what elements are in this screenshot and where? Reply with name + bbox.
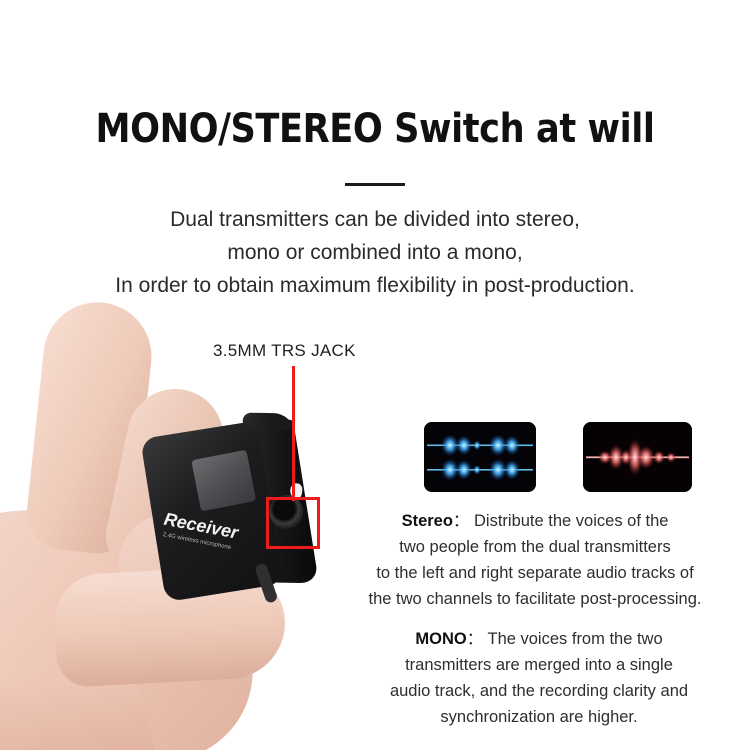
stereo-separator: ： xyxy=(453,512,470,530)
device-clip xyxy=(267,418,294,430)
subtitle-line-3: In order to obtain maximum flexibility i… xyxy=(0,269,750,302)
mono-desc-line-1: MONO： The voices from the two xyxy=(336,626,742,652)
product-feature-page: MONO/STEREO Switch at will Dual transmit… xyxy=(0,0,750,750)
mono-waveform-icon xyxy=(583,422,692,492)
mono-waveform-image xyxy=(583,422,692,492)
mono-desc-line-3: audio track, and the recording clarity a… xyxy=(336,678,742,704)
callout-leader-line xyxy=(292,366,295,501)
stereo-desc-line-3: to the left and right separate audio tra… xyxy=(328,560,742,586)
page-subtitle: Dual transmitters can be divided into st… xyxy=(0,203,750,302)
stereo-term: Stereo xyxy=(402,512,453,530)
callout-highlight-box xyxy=(266,497,320,549)
stereo-desc-line-1: Stereo： Distribute the voices of the xyxy=(328,508,742,534)
subtitle-line-2: mono or combined into a mono, xyxy=(0,236,750,269)
stereo-desc-line-2: two people from the dual transmitters xyxy=(328,534,742,560)
mono-desc-line-4: synchronization are higher. xyxy=(336,704,742,730)
mono-separator: ： xyxy=(467,630,484,648)
mono-description: MONO： The voices from the two transmitte… xyxy=(336,626,742,730)
stereo-desc-text-1: Distribute the voices of the xyxy=(469,512,668,530)
mono-desc-line-2: transmitters are merged into a single xyxy=(336,652,742,678)
stereo-waveform-image xyxy=(424,422,536,492)
stereo-waveform-icon xyxy=(424,422,536,492)
subtitle-line-1: Dual transmitters can be divided into st… xyxy=(0,203,750,236)
page-title: MONO/STEREO Switch at will xyxy=(45,106,705,152)
callout-label-trs-jack: 3.5MM TRS JACK xyxy=(213,341,356,361)
mono-desc-text-1: The voices from the two xyxy=(483,630,662,648)
title-divider xyxy=(345,183,405,186)
device-lcd-screen xyxy=(191,450,256,512)
stereo-description: Stereo： Distribute the voices of the two… xyxy=(328,508,742,612)
stereo-desc-line-4: the two channels to facilitate post-proc… xyxy=(328,586,742,612)
mono-term: MONO xyxy=(415,630,466,648)
